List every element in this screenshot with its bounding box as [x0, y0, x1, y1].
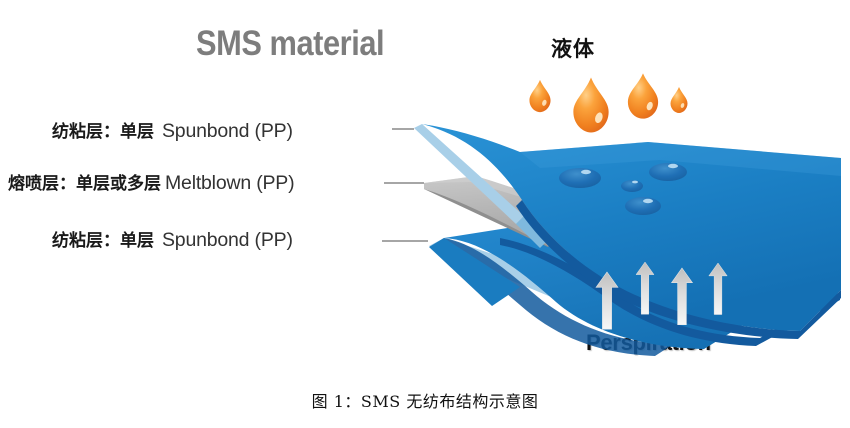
- beaded-droplet: [649, 163, 687, 181]
- beaded-droplet: [621, 180, 643, 192]
- figure-caption: 图 1：SMS 无纺布结构示意图: [0, 388, 850, 412]
- beaded-droplet: [559, 168, 601, 188]
- liquid-droplet: [573, 78, 608, 133]
- liquid-droplet: [628, 73, 658, 118]
- liquid-droplet: [529, 80, 550, 112]
- beaded-droplet: [625, 197, 661, 215]
- liquid-droplet: [671, 87, 688, 113]
- falling-droplets-group: [529, 73, 687, 132]
- figure-canvas: SMS material 纺粘层：单层 Spunbond (PP) 熔喷层：单层…: [0, 0, 850, 428]
- sms-fabric-illustration: [0, 0, 850, 428]
